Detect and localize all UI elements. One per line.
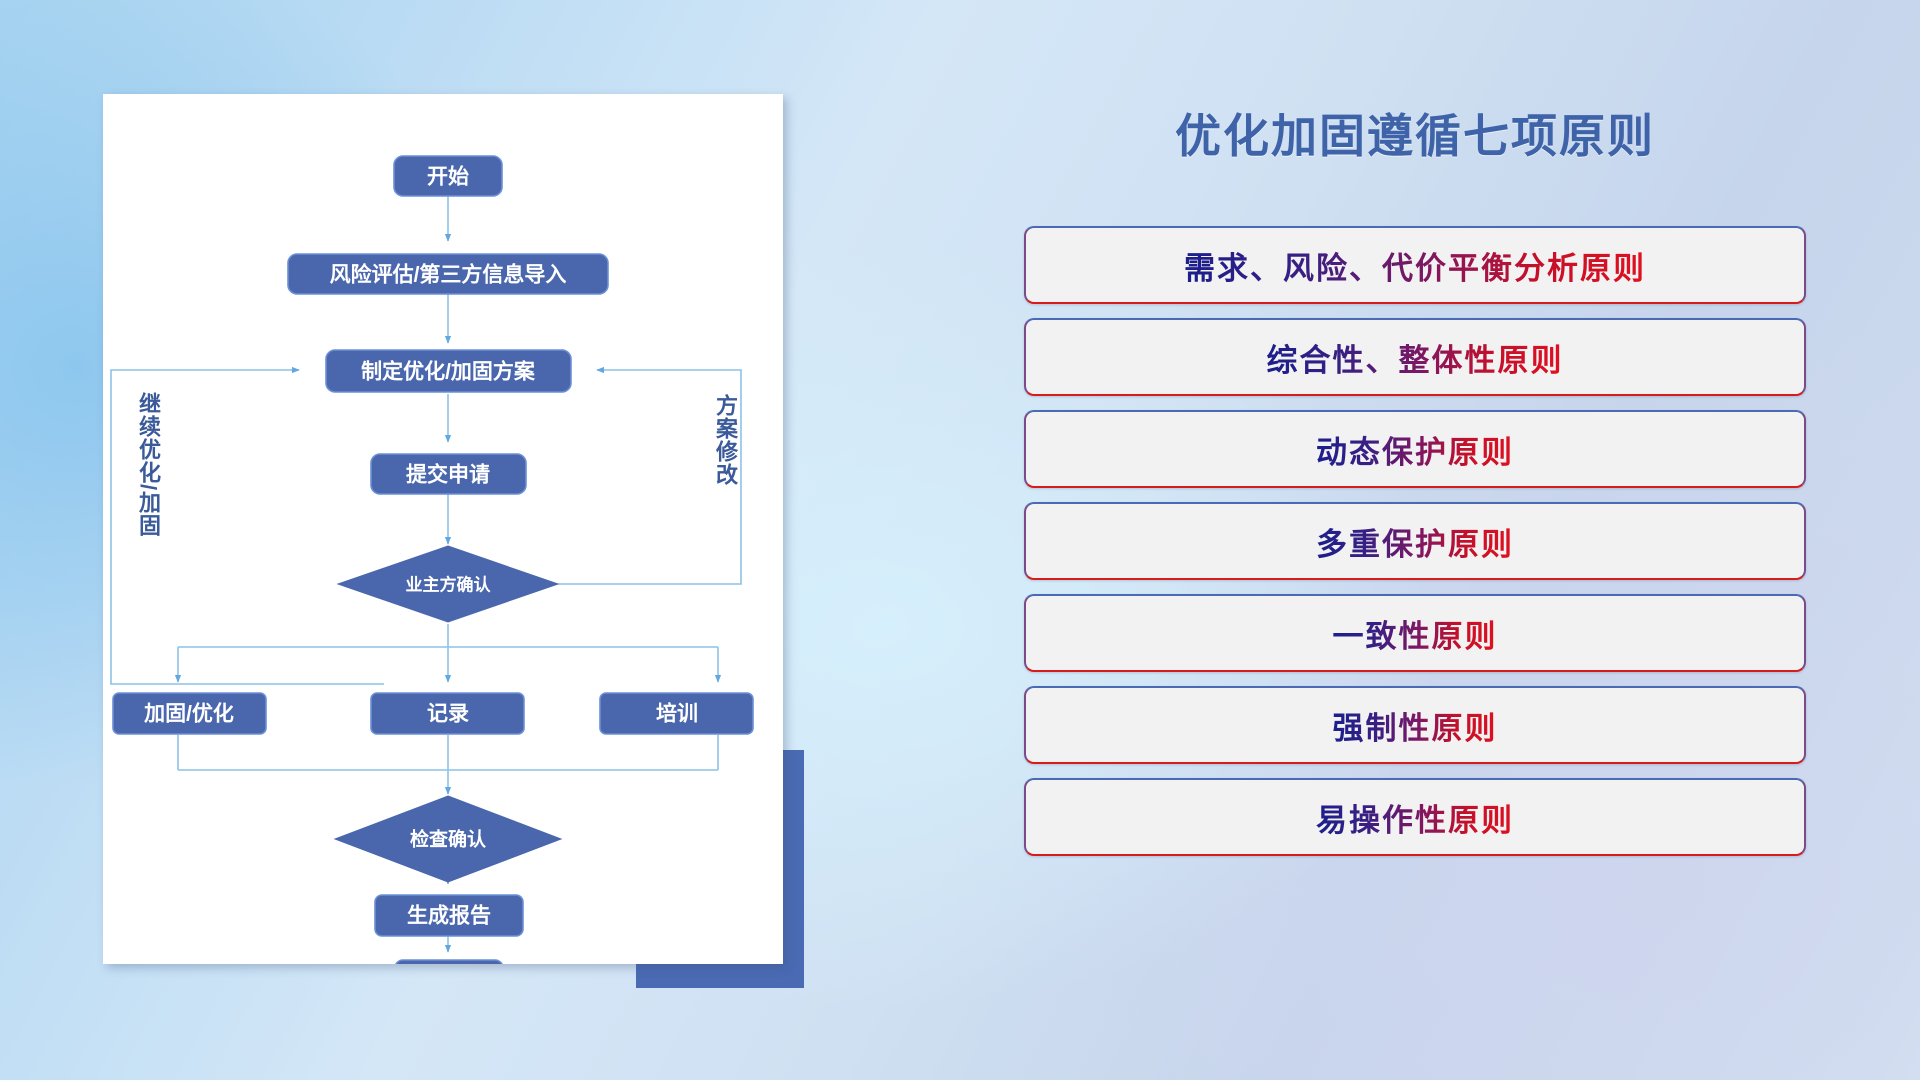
flow-node-report[interactable]: 生成报告 bbox=[375, 895, 523, 936]
principles-panel: 优化加固遵循七项原则 需求、风险、代价平衡分析原则 综合性、整体性原则 动态保护… bbox=[1010, 100, 1820, 1000]
principle-label: 动态保护原则 bbox=[1316, 427, 1514, 472]
flow-node-check-confirm-label: 检查确认 bbox=[410, 828, 486, 851]
principle-label: 一致性原则 bbox=[1333, 611, 1498, 656]
flow-node-risk[interactable]: 风险评估/第三方信息导入 bbox=[288, 254, 608, 294]
flow-node-reinforce-label: 加固/优化 bbox=[143, 702, 234, 726]
principle-label: 需求、风险、代价平衡分析原则 bbox=[1184, 243, 1646, 288]
flow-node-end-shape bbox=[395, 960, 503, 964]
principle-card-1[interactable]: 需求、风险、代价平衡分析原则 bbox=[1024, 226, 1806, 304]
slide-canvas: 开始 风险评估/第三方信息导入 制定优化/加固方案 提交申请 业主方确认 bbox=[0, 0, 1920, 1080]
principle-card-7[interactable]: 易操作性原则 bbox=[1024, 778, 1806, 856]
flow-node-check-confirm[interactable]: 检查确认 bbox=[335, 796, 561, 882]
page-title: 优化加固遵循七项原则 bbox=[1010, 100, 1820, 166]
principle-card-2[interactable]: 综合性、整体性原则 bbox=[1024, 318, 1806, 396]
flow-node-plan-label: 制定优化/加固方案 bbox=[361, 360, 536, 384]
flowchart-svg: 开始 风险评估/第三方信息导入 制定优化/加固方案 提交申请 业主方确认 bbox=[103, 94, 783, 964]
flow-node-risk-label: 风险评估/第三方信息导入 bbox=[330, 263, 567, 287]
flow-node-submit-label: 提交申请 bbox=[406, 463, 490, 487]
flow-node-record[interactable]: 记录 bbox=[371, 693, 524, 734]
principle-label: 综合性、整体性原则 bbox=[1267, 335, 1564, 380]
principle-card-3[interactable]: 动态保护原则 bbox=[1024, 410, 1806, 488]
principle-card-6[interactable]: 强制性原则 bbox=[1024, 686, 1806, 764]
flow-node-reinforce[interactable]: 加固/优化 bbox=[113, 693, 266, 734]
flowchart-card: 开始 风险评估/第三方信息导入 制定优化/加固方案 提交申请 业主方确认 bbox=[103, 94, 783, 964]
principles-list: 需求、风险、代价平衡分析原则 综合性、整体性原则 动态保护原则 多重保护原则 一… bbox=[1024, 226, 1810, 870]
flow-node-record-label: 记录 bbox=[427, 703, 469, 726]
flow-node-training[interactable]: 培训 bbox=[600, 693, 753, 734]
principle-label: 多重保护原则 bbox=[1316, 519, 1514, 564]
flow-edge-label-right: 方案修改 bbox=[714, 394, 736, 486]
principle-label: 强制性原则 bbox=[1333, 703, 1498, 748]
flow-node-training-label: 培训 bbox=[656, 702, 698, 726]
flow-node-submit[interactable]: 提交申请 bbox=[371, 454, 526, 494]
flow-node-plan[interactable]: 制定优化/加固方案 bbox=[326, 350, 571, 392]
principle-card-4[interactable]: 多重保护原则 bbox=[1024, 502, 1806, 580]
flow-node-start[interactable]: 开始 bbox=[394, 156, 502, 196]
flow-node-report-label: 生成报告 bbox=[407, 904, 491, 928]
flow-node-start-label: 开始 bbox=[427, 165, 469, 189]
flow-node-owner-confirm-label: 业主方确认 bbox=[406, 575, 492, 595]
flow-node-end[interactable]: 结束 bbox=[395, 960, 503, 964]
flow-edge-label-left: 继续优化/加固 bbox=[137, 392, 159, 537]
flow-node-owner-confirm[interactable]: 业主方确认 bbox=[338, 546, 558, 622]
principle-card-5[interactable]: 一致性原则 bbox=[1024, 594, 1806, 672]
principle-label: 易操作性原则 bbox=[1316, 795, 1514, 840]
